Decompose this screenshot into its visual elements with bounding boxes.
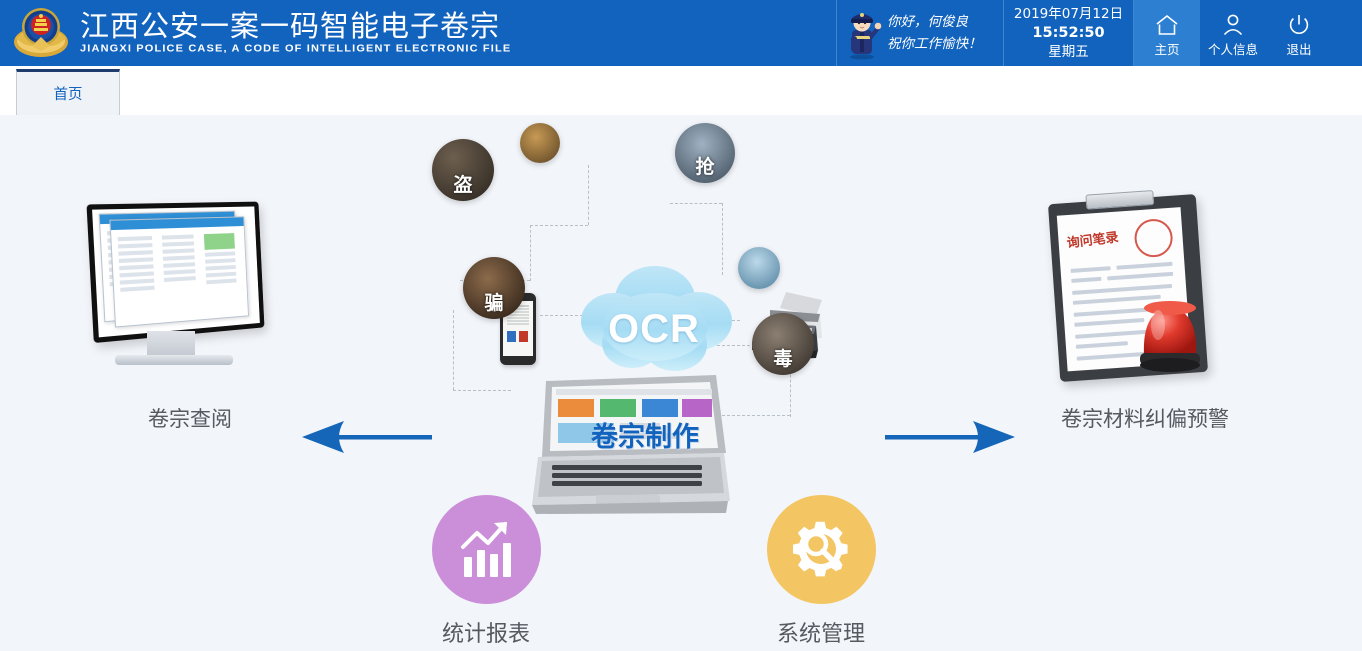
- greeting-line-2: 祝你工作愉快！: [887, 33, 982, 55]
- shortcut-statistics-label: 统计报表: [386, 616, 586, 648]
- user-icon: [1220, 13, 1246, 37]
- greeting-text: 你好，何俊良 祝你工作愉快！: [887, 11, 982, 55]
- case-photo-theft: 盗: [432, 139, 494, 201]
- arrow-right: [885, 415, 1017, 464]
- monitor-stand: [147, 331, 195, 357]
- power-icon: [1286, 13, 1312, 37]
- case-photo-drugs-label: 毒: [773, 344, 792, 371]
- home-icon: [1154, 13, 1180, 37]
- case-photo-robbery: 抢: [675, 123, 735, 183]
- official-seal-icon: [1133, 218, 1174, 259]
- shortcut-system-management-label: 系统管理: [721, 616, 921, 648]
- nav-logout-button[interactable]: 退出: [1266, 0, 1332, 66]
- connector-line: [453, 390, 511, 391]
- brand-block: 江西公安一案一码智能电子卷宗 JIANGXI POLICE CASE, A CO…: [0, 0, 836, 66]
- shortcut-system-management[interactable]: 系统管理: [721, 495, 921, 648]
- header-nav: 主页 个人信息 退出: [1134, 0, 1362, 66]
- police-badge-icon: [12, 4, 70, 62]
- module-case-browse-label: 卷宗查阅: [85, 403, 295, 433]
- main-content: 卷宗查阅: [0, 115, 1362, 651]
- connector-line: [670, 203, 722, 204]
- connector-line: [530, 225, 531, 281]
- tab-home[interactable]: 首页: [16, 69, 120, 115]
- arrow-left: [300, 415, 432, 464]
- nav-profile-label: 个人信息: [1208, 39, 1258, 58]
- shortcut-statistics[interactable]: 统计报表: [386, 495, 586, 648]
- monitor-base: [115, 355, 233, 365]
- evidence-photo: [520, 123, 560, 163]
- app-title-en: JIANGXI POLICE CASE, A CODE OF INTELLIGE…: [80, 44, 511, 54]
- app-header: 江西公安一案一码智能电子卷宗 JIANGXI POLICE CASE, A CO…: [0, 0, 1362, 66]
- brand-text: 江西公安一案一码智能电子卷宗 JIANGXI POLICE CASE, A CO…: [80, 12, 511, 55]
- tab-home-label: 首页: [54, 83, 83, 104]
- module-case-alert-label: 卷宗材料纠偏预警: [1000, 403, 1290, 433]
- current-weekday: 星期五: [1004, 43, 1133, 62]
- module-case-alert[interactable]: 询问笔录: [1040, 193, 1250, 393]
- connector-line: [530, 225, 588, 226]
- tab-bar: 首页: [0, 66, 1362, 115]
- fingerprint-photo: [738, 247, 780, 289]
- connector-line: [588, 165, 589, 225]
- nav-home-label: 主页: [1154, 39, 1179, 58]
- nav-home-button[interactable]: 主页: [1134, 0, 1200, 66]
- module-case-creation-label: 卷宗制作: [520, 415, 770, 454]
- gear-wrench-icon[interactable]: [767, 495, 876, 604]
- connector-line: [453, 310, 454, 390]
- case-photo-fraud: 骗: [463, 257, 525, 319]
- alarm-light-icon: [1132, 295, 1208, 375]
- document-title: 询问笔录: [1066, 226, 1120, 251]
- greeting-block: 你好，何俊良 祝你工作愉快！: [836, 0, 1004, 66]
- current-time: 15:52:50: [1004, 24, 1133, 43]
- ocr-cloud-label: OCR: [608, 307, 700, 352]
- policeman-avatar-icon: [841, 6, 883, 60]
- current-date: 2019年07月12日: [1004, 5, 1133, 24]
- bar-chart-icon[interactable]: [432, 495, 541, 604]
- case-photo-robbery-label: 抢: [695, 152, 714, 179]
- greeting-line-1: 你好，何俊良: [887, 11, 982, 33]
- app-title-cn: 江西公安一案一码智能电子卷宗: [80, 12, 511, 41]
- nav-profile-button[interactable]: 个人信息: [1200, 0, 1266, 66]
- module-case-creation[interactable]: OCR: [420, 115, 860, 415]
- module-case-browse[interactable]: [85, 195, 295, 395]
- case-photo-fraud-label: 骗: [484, 288, 503, 315]
- datetime-block: 2019年07月12日 15:52:50 星期五: [1004, 0, 1134, 66]
- case-photo-theft-label: 盗: [453, 170, 472, 197]
- case-photo-drugs: 毒: [752, 313, 814, 375]
- desktop-monitor-illustration: [86, 202, 264, 343]
- nav-logout-label: 退出: [1286, 39, 1311, 58]
- clipboard-clip: [1085, 190, 1154, 210]
